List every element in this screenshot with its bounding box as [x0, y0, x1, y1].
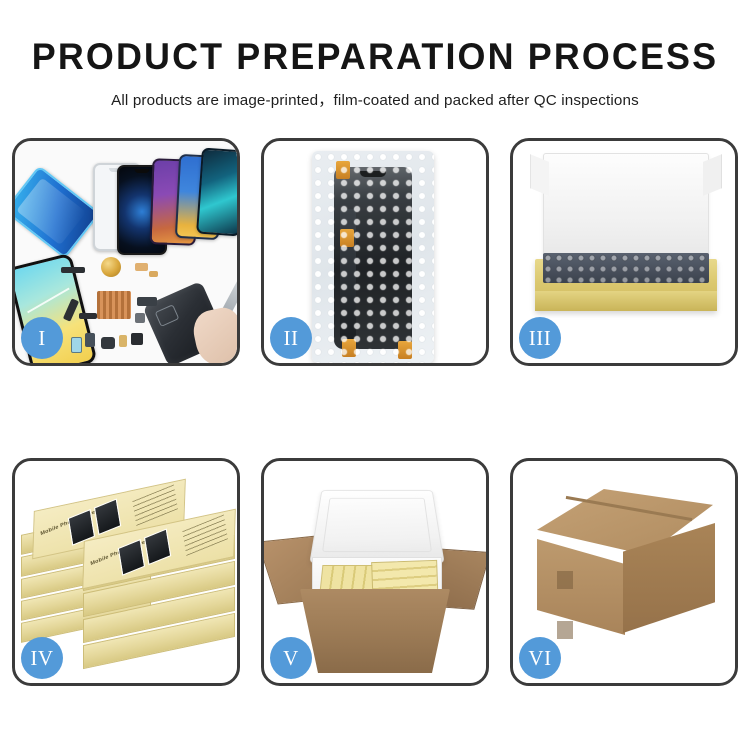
- phone-screen-teal: [196, 148, 237, 237]
- step-card-4: Mobile Phone Spare Parts Mobile Phone Sp…: [12, 458, 240, 686]
- bubble-wrapped-contents: [543, 253, 709, 283]
- step-badge-6: VI: [519, 637, 561, 679]
- vibrator-part: [101, 337, 115, 349]
- tape-tab-bottom-left: [342, 339, 356, 357]
- step-badge-1: I: [21, 317, 63, 359]
- box-artwork-screen-3: [118, 539, 145, 576]
- carton-tape-upper: [557, 571, 573, 589]
- box-spec-text-lines-front: [182, 514, 228, 555]
- header: PRODUCT PREPARATION PROCESS All products…: [0, 0, 750, 110]
- step-badge-3: III: [519, 317, 561, 359]
- chip-part: [131, 333, 143, 345]
- connector-part: [135, 263, 148, 271]
- box-spec-text-lines: [132, 484, 178, 525]
- step-card-5: V: [261, 458, 489, 686]
- sim-tray-part: [85, 333, 95, 347]
- tape-tab-middle: [340, 229, 354, 247]
- yellow-box-front-lip: [535, 291, 717, 311]
- step-card-6: VI: [510, 458, 738, 686]
- carton-body: [300, 589, 450, 673]
- box-artwork-screen-4: [144, 528, 171, 565]
- carton-tape-lower: [557, 621, 573, 639]
- step-card-2: II: [261, 138, 489, 366]
- flex-cable-part: [61, 267, 85, 273]
- step-card-1: I: [12, 138, 240, 366]
- white-foam-lid: [543, 153, 709, 267]
- button-part: [135, 313, 145, 323]
- infographic-page: PRODUCT PREPARATION PROCESS All products…: [0, 0, 750, 750]
- step-badge-4: IV: [21, 637, 63, 679]
- page-title: PRODUCT PREPARATION PROCESS: [11, 38, 739, 77]
- screw-tray-component: [97, 291, 131, 319]
- bubble-wrap-bag: [312, 151, 434, 363]
- page-subtitle: All products are image-printed，film-coat…: [0, 88, 750, 110]
- battery-connector-part: [71, 337, 82, 353]
- tape-tab-top: [336, 161, 350, 179]
- step-badge-2: II: [270, 317, 312, 359]
- bracket-part: [79, 313, 97, 319]
- phone-screen-blue: [15, 165, 101, 259]
- process-grid: I II: [12, 138, 738, 686]
- gold-contact-part: [119, 335, 127, 347]
- connector-small-part: [149, 271, 158, 277]
- camera-module-part: [137, 297, 157, 306]
- tape-tab-bottom-right: [398, 341, 412, 359]
- step-badge-5: V: [270, 637, 312, 679]
- step-card-3: III: [510, 138, 738, 366]
- sealed-carton-left-face: [537, 539, 625, 635]
- box-artwork-screen-2: [94, 498, 121, 535]
- foam-cooler-lid: [309, 490, 444, 563]
- speaker-component: [101, 257, 121, 277]
